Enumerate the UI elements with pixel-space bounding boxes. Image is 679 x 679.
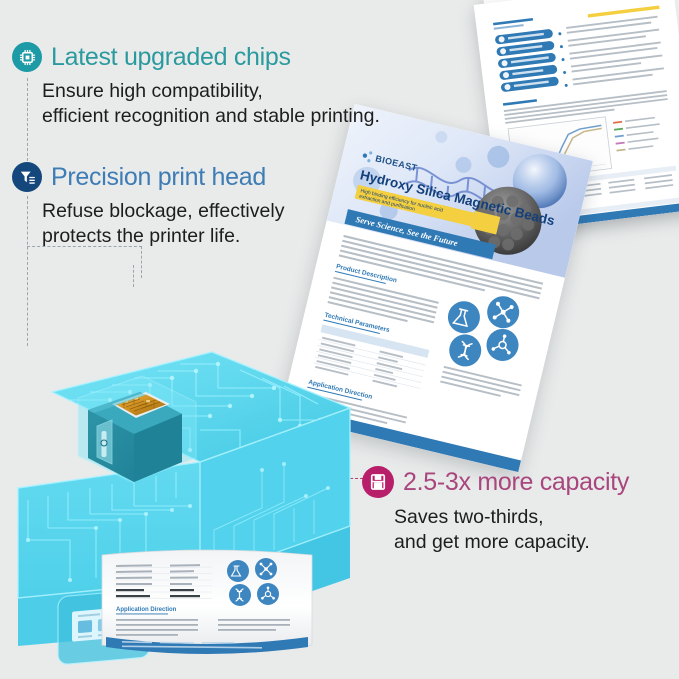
feature-body: Saves two-thirds, and get more capacity. xyxy=(394,505,629,555)
feature-title: Precision print head xyxy=(51,165,266,190)
feature-precision-print-head: Precision print head Refuse blockage, ef… xyxy=(12,162,284,249)
feature-body: Ensure high compatibility, efficient rec… xyxy=(42,79,380,129)
feature-body: Refuse blockage, effectively protects th… xyxy=(42,199,284,249)
feature-title: 2.5-3x more capacity xyxy=(403,470,629,495)
product-feature-illustration: BIOEAST Hydroxy Silica Magnetic Beads Hi… xyxy=(0,0,679,679)
feature-title: Latest upgraded chips xyxy=(51,45,291,70)
connector-head-drop xyxy=(141,246,142,278)
printed-output-page: Application Direction xyxy=(98,549,316,661)
feature-heading-row: 2.5-3x more capacity xyxy=(362,466,629,498)
feature-heading-row: Latest upgraded chips xyxy=(12,42,380,72)
feature-latest-upgraded-chips: Latest upgraded chips Ensure high compat… xyxy=(12,42,380,129)
print-head-nozzle-icon xyxy=(12,162,42,192)
svg-text:Application Direction: Application Direction xyxy=(116,607,177,613)
feature-heading-row: Precision print head xyxy=(12,162,284,192)
connector-chip-drop xyxy=(133,265,134,287)
feature-more-capacity: 2.5-3x more capacity Saves two-thirds, a… xyxy=(362,466,629,555)
microchip-icon xyxy=(12,42,42,72)
ink-cartridge-icon xyxy=(362,466,394,498)
